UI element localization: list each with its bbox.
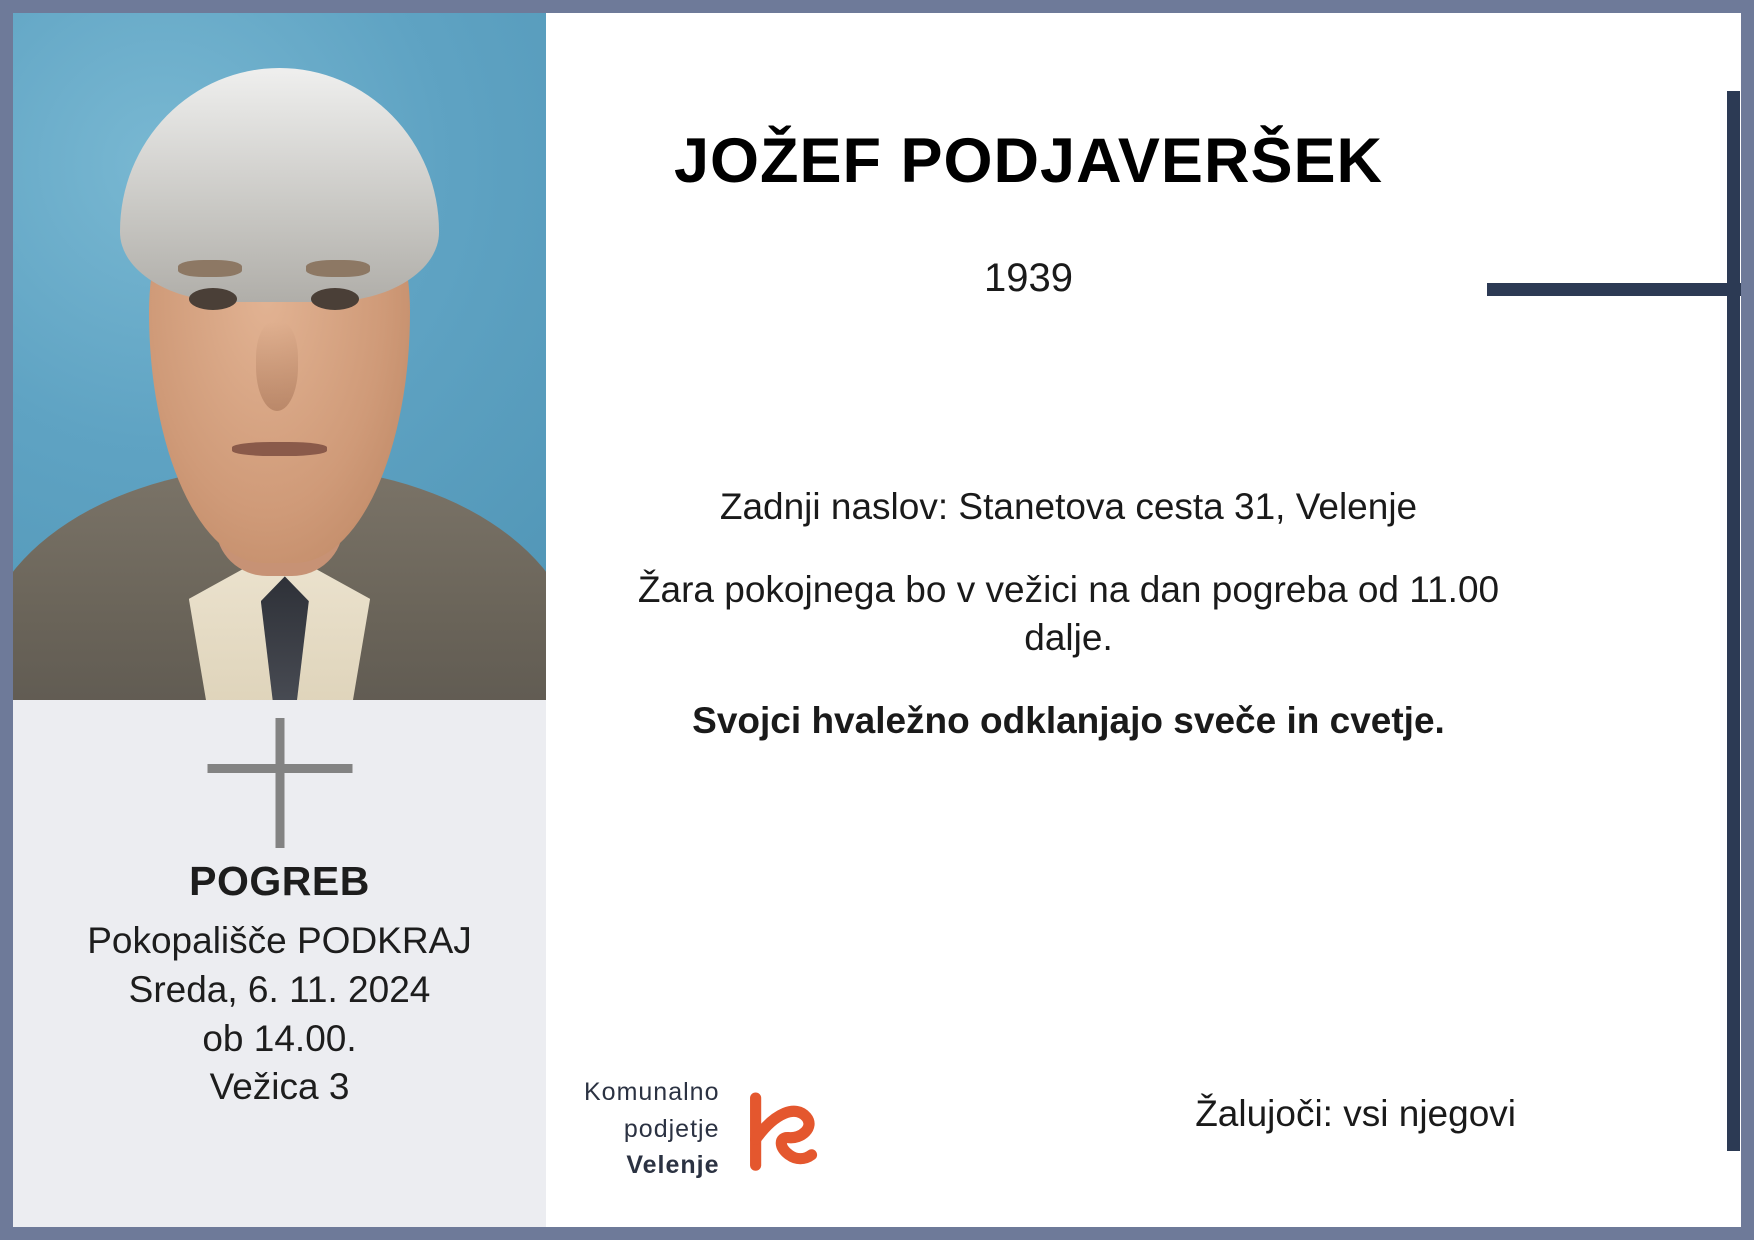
logo-line-1: Komunalno xyxy=(584,1074,719,1110)
kp-monogram-icon xyxy=(741,1086,827,1172)
funeral-heading: POGREB xyxy=(31,858,528,905)
right-panel: JOŽEF PODJAVERŠEK 1939 Zadnji naslov: St… xyxy=(546,13,1741,1227)
deceased-year: 1939 xyxy=(546,256,1511,301)
funeral-chapel: Vežica 3 xyxy=(31,1063,528,1112)
cross-vertical-bar xyxy=(275,718,284,848)
photo-eye-left xyxy=(189,288,237,310)
portrait-photo xyxy=(13,13,546,700)
christian-cross-icon xyxy=(13,706,546,856)
logo-line-2: podjetje xyxy=(584,1111,719,1147)
logo-line-3: Velenje xyxy=(584,1147,719,1183)
christian-cross-icon-vertical xyxy=(1727,91,1740,1151)
funeral-cemetery: Pokopališče PODKRAJ xyxy=(31,917,528,966)
flowers-notice: Svojci hvaležno odklanjajo sveče in cvet… xyxy=(606,697,1531,744)
obituary-notice: POGREB Pokopališče PODKRAJ Sreda, 6. 11.… xyxy=(0,0,1754,1240)
notice-sheet: POGREB Pokopališče PODKRAJ Sreda, 6. 11.… xyxy=(13,13,1741,1227)
urn-notice: Žara pokojnega bo v vežici na dan pogreb… xyxy=(606,566,1531,661)
logo-wordmark: Komunalno podjetje Velenje xyxy=(584,1074,719,1183)
photo-nose xyxy=(256,322,299,411)
funeral-date: Sreda, 6. 11. 2024 xyxy=(31,966,528,1015)
mourners-line: Žalujoči: vsi njegovi xyxy=(1195,1093,1516,1135)
photo-eye-right xyxy=(311,288,359,310)
last-address: Zadnji naslov: Stanetova cesta 31, Velen… xyxy=(606,483,1531,530)
left-panel: POGREB Pokopališče PODKRAJ Sreda, 6. 11.… xyxy=(13,13,546,1227)
photo-mouth xyxy=(232,442,328,456)
photo-eyebrow-left xyxy=(178,260,242,276)
funeral-time: ob 14.00. xyxy=(31,1015,528,1064)
deceased-name: JOŽEF PODJAVERŠEK xyxy=(546,125,1511,197)
photo-eyebrow-right xyxy=(306,260,370,276)
company-logo: Komunalno podjetje Velenje xyxy=(584,1074,827,1183)
notice-body: Zadnji naslov: Stanetova cesta 31, Velen… xyxy=(606,483,1531,744)
christian-cross-icon-horizontal xyxy=(1487,283,1741,296)
funeral-details: POGREB Pokopališče PODKRAJ Sreda, 6. 11.… xyxy=(13,856,546,1227)
cross-horizontal-bar xyxy=(207,764,352,773)
